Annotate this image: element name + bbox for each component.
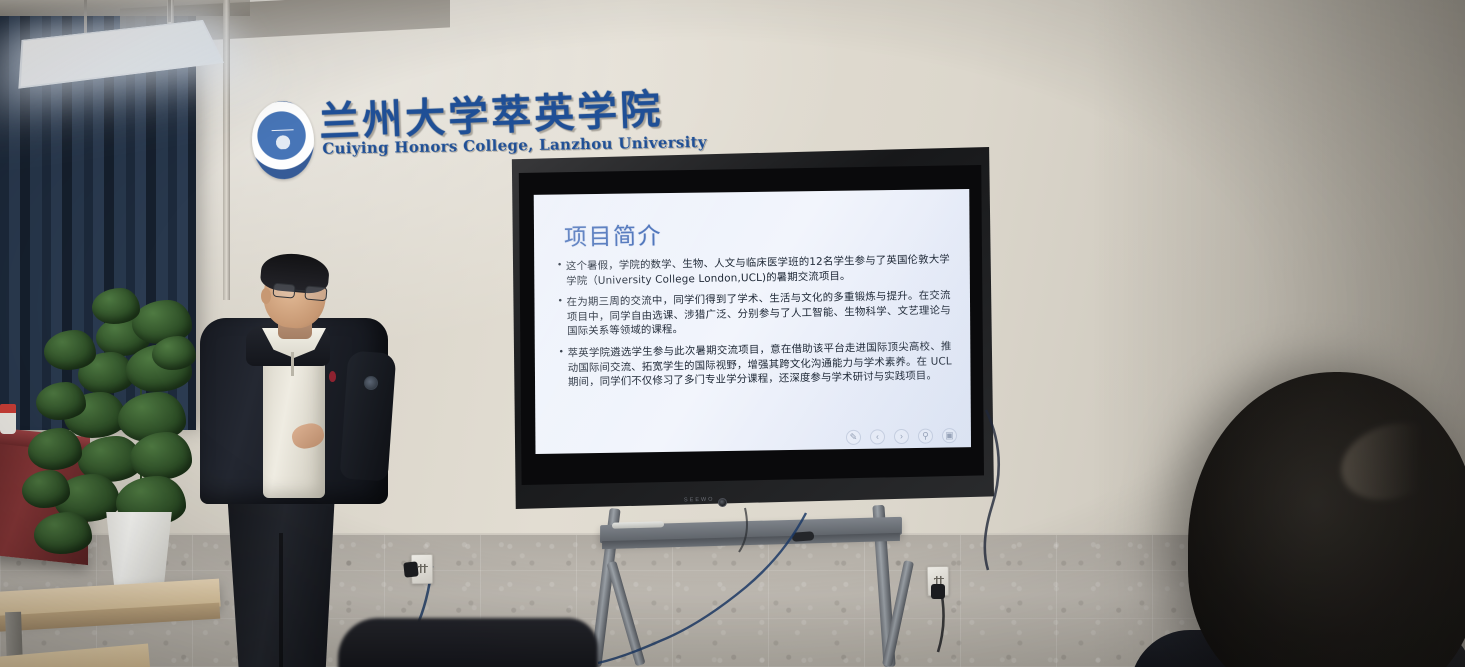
- power-plug-left: [403, 561, 418, 577]
- foreground-seated-person-left: [338, 618, 598, 667]
- display-power-cable: [985, 410, 999, 570]
- floor-network-cable: [598, 513, 806, 663]
- shelf-cable: [739, 508, 747, 552]
- power-plug-right: [931, 584, 945, 599]
- presentation-room-photo: 兰州大学萃英学院 Cuiying Honors College, Lanzhou…: [0, 0, 1465, 667]
